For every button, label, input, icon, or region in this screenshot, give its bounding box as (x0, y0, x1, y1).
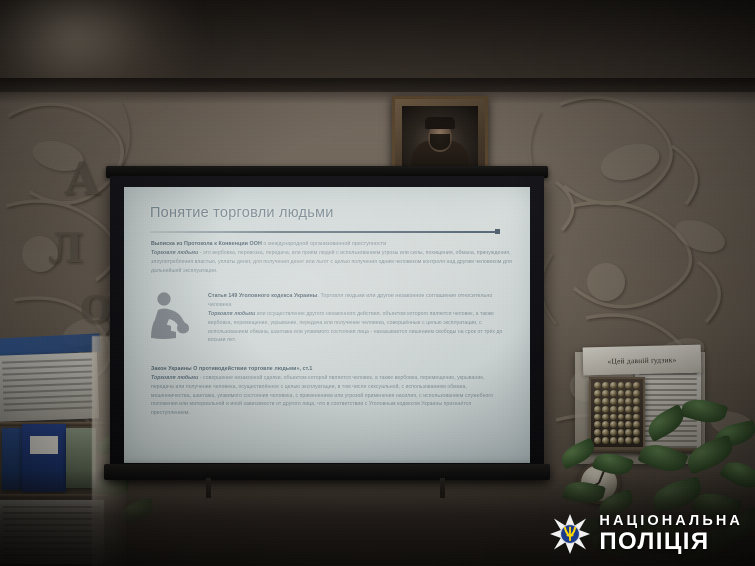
police-watermark: НАЦІОНАЛЬНА ПОЛІЦІЯ (550, 514, 743, 555)
watermark-line-2: ПОЛІЦІЯ (599, 530, 743, 554)
portrait-figure-hat (425, 117, 455, 129)
block-cc-term: Торговля людьми (208, 311, 255, 317)
block-protocol-lead-rest: о международной организованной преступно… (262, 241, 386, 247)
slide-block-law: Закон Украины О противодействии торговле… (151, 365, 503, 418)
button-collection-grid (594, 382, 640, 444)
block-protocol-lead-bold: Выписка из Протокола к Конвенции ООН (151, 241, 262, 247)
block-law-body-text: - совершение незаконной сделки, объектом… (151, 375, 493, 416)
block-cc-lead-bold: Статья 149 Уголовного кодекса Украины (208, 293, 317, 299)
projector-screen: Понятие торговли людьми Выписка из Прото… (110, 172, 544, 494)
slide-block-protocol: Выписка из Протокола к Конвенции ООН о м… (151, 240, 513, 275)
title-divider-dot (495, 229, 500, 234)
shelf-papers-top (0, 352, 99, 421)
room-photo-scene: А Л О Д (0, 0, 755, 566)
wall-display-poster: «Цей давній ґудзик» (583, 345, 702, 376)
block-protocol-lead: Выписка из Протокола к Конвенции ООН о м… (151, 240, 513, 249)
block-cc-body: Торговля людьми или осуществление другог… (208, 310, 514, 345)
slide-block-criminal-code: Статья 149 Уголовного кодекса Украины. Т… (208, 292, 514, 345)
svg-text:А: А (64, 154, 100, 205)
portrait-canvas (402, 106, 478, 172)
ceiling-shadow (0, 78, 755, 104)
block-protocol-body: Торговля людьми - это вербовка, перевозк… (151, 249, 513, 275)
slide-title: Понятие торговли людьми (150, 205, 334, 221)
police-watermark-text: НАЦІОНАЛЬНА ПОЛІЦІЯ (599, 514, 743, 555)
block-law-body: Торговля людьми - совершение незаконной … (151, 374, 503, 418)
title-divider-rule (150, 231, 498, 233)
svg-text:О: О (80, 289, 111, 331)
block-law-lead: Закон Украины О противодействии торговле… (151, 365, 503, 374)
block-cc-lead: Статья 149 Уголовного кодекса Украины. Т… (208, 292, 514, 310)
block-protocol-body-text: - это вербовка, перевозка, передача, или… (151, 250, 512, 274)
block-law-lead-bold: Закон Украины О противодействии торговле… (151, 366, 312, 372)
screen-frame: Понятие торговли людьми Выписка из Прото… (110, 176, 544, 472)
watermark-line-1: НАЦІОНАЛЬНА (599, 514, 743, 529)
ukrainian-police-star-badge-icon (550, 514, 590, 554)
svg-text:Л: Л (48, 225, 83, 272)
block-protocol-term: Торговля людьми (151, 250, 198, 256)
presentation-slide: Понятие торговли людьми Выписка из Прото… (124, 187, 530, 463)
kneeling-person-icon (150, 291, 194, 345)
portrait-figure-beard (430, 134, 450, 150)
block-law-term: Торговля людьми (151, 375, 198, 381)
wall-display-poster-caption: «Цей давній ґудзик» (607, 355, 676, 366)
shelf-book-label (30, 436, 58, 454)
